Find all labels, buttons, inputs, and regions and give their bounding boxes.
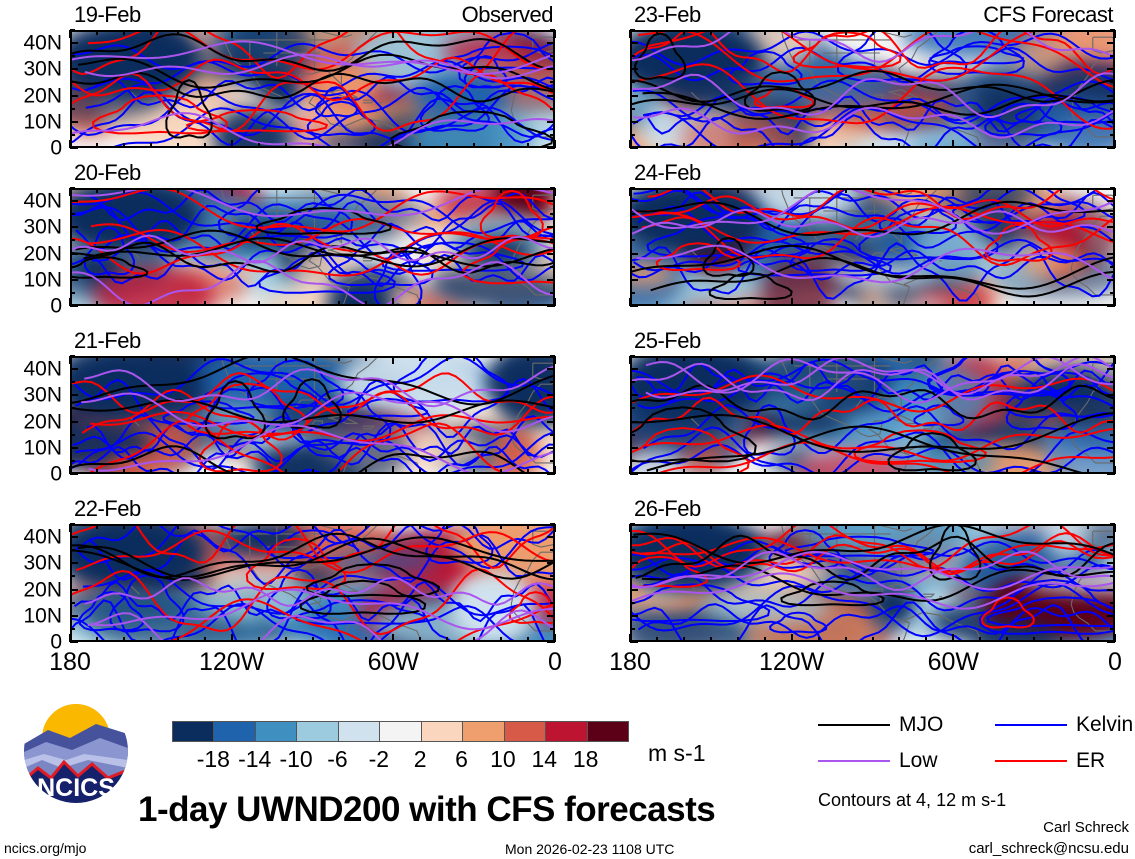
axis-tick [527,524,529,529]
axis-tick [70,121,78,123]
y-tick-label: 0 [50,464,62,485]
axis-tick [70,42,78,44]
axis-tick [872,188,874,193]
axis-tick [1110,239,1115,241]
axis-tick [630,628,635,630]
axis-tick [547,253,555,255]
plot-area [630,524,1115,642]
axis-tick [1110,407,1115,409]
axis-tick [979,356,981,361]
axis-tick [419,524,421,529]
axis-tick [683,188,685,193]
axis-tick [764,524,766,529]
x-tick-label: 120W [759,650,824,675]
axis-tick [791,524,793,532]
axis-tick [547,473,555,475]
axis-tick [96,143,98,148]
axis-tick [630,29,635,31]
axis-tick [527,301,529,306]
axis-tick [70,279,78,281]
axis-tick [150,301,152,306]
axis-tick [1110,187,1115,189]
axis-tick [710,301,712,306]
axis-tick [1033,30,1035,35]
y-tick-label: 10N [23,111,62,132]
axis-tick [96,356,98,361]
axis-tick [123,356,125,361]
axis-tick [1060,637,1062,642]
axis-tick [204,637,206,642]
axis-tick [630,394,638,396]
y-tick-label: 30N [23,385,62,406]
axis-tick [1107,615,1115,617]
axis-tick [872,356,874,361]
axis-tick [527,356,529,361]
axis-tick [70,305,78,307]
axis-tick [630,381,635,383]
axis-tick [1107,121,1115,123]
axis-tick [898,469,900,474]
axis-tick [818,143,820,148]
axis-tick [70,394,78,396]
legend-label-kelvin: Kelvin x2 [1076,714,1135,735]
axis-tick [550,55,555,57]
colorbar-tick-label: 6 [455,746,468,773]
axis-tick [629,188,631,196]
axis-tick [365,356,367,361]
axis-tick [630,292,635,294]
axis-tick [1114,356,1116,364]
axis-tick [550,602,555,604]
colorbar-tick-label: 14 [531,746,557,773]
axis-tick [500,356,502,361]
axis-tick [204,469,206,474]
axis-tick [285,30,287,35]
axis-tick [70,292,75,294]
axis-tick [547,447,555,449]
axis-tick [177,637,179,642]
axis-tick [1033,301,1035,306]
axis-tick [764,30,766,35]
axis-tick [925,469,927,474]
y-axis-labels: 40N30N20N10N0 [4,524,62,642]
axis-tick [312,524,314,529]
colorbar-tick-label: -10 [279,746,312,773]
axis-tick [547,147,555,149]
axis-tick [630,447,638,449]
axis-tick [1114,30,1116,38]
axis-tick [70,589,78,591]
column-header-label: CFS Forecast [983,4,1113,26]
axis-tick [392,634,394,642]
axis-tick [96,188,98,193]
y-tick-label: 20N [23,85,62,106]
axis-tick [446,188,448,193]
axis-tick [1110,81,1115,83]
axis-tick [656,637,658,642]
axis-tick [123,143,125,148]
axis-tick [898,637,900,642]
axis-tick [550,381,555,383]
axis-tick [177,524,179,529]
axis-tick [1060,356,1062,361]
axis-tick [550,434,555,436]
axis-tick [764,637,766,642]
axis-tick [70,407,75,409]
axis-tick [656,356,658,361]
axis-tick [872,143,874,148]
colorbar-swatch [379,722,420,741]
axis-tick [845,188,847,193]
axis-tick [554,30,556,38]
axis-tick [550,628,555,630]
axis-tick [1107,200,1115,202]
axis-tick [1060,524,1062,529]
axis-tick [630,42,638,44]
axis-tick [547,68,555,70]
axis-tick [70,68,78,70]
axis-tick [764,356,766,361]
x-tick-label: 60W [368,650,419,675]
axis-tick [547,279,555,281]
axis-tick [710,356,712,361]
axis-tick [204,143,206,148]
axis-tick [630,305,638,307]
colorbar-tick-label: 18 [573,746,599,773]
author-email[interactable]: carl_schreck@ncsu.edu [969,840,1129,857]
axis-tick [550,239,555,241]
axis-tick [629,30,631,38]
axis-tick [764,301,766,306]
colorbar-swatch [255,722,296,741]
axis-tick [630,68,638,70]
axis-tick [338,637,340,642]
axis-tick [446,301,448,306]
axis-tick [683,637,685,642]
axis-tick [123,469,125,474]
colorbar-swatch [421,722,462,741]
axis-tick [550,292,555,294]
axis-tick [550,29,555,31]
axis-tick [554,524,556,532]
axis-tick [70,473,78,475]
axis-tick [1110,434,1115,436]
axis-tick [630,460,635,462]
axis-tick [177,469,179,474]
axis-tick [1110,575,1115,577]
panel-date-label: 21-Feb [74,330,141,352]
axis-tick [898,301,900,306]
contour-note: Contours at 4, 12 m s-1 [818,790,1006,811]
axis-tick [656,469,658,474]
kelvin-line-swatch [995,724,1067,726]
axis-tick [392,30,394,38]
axis-tick [204,301,206,306]
axis-tick [710,188,712,193]
wave-contours [632,526,1115,642]
axis-tick [630,200,638,202]
colorbar [172,721,629,742]
axis-tick [1033,188,1035,193]
axis-tick [1110,213,1115,215]
axis-tick [1033,356,1035,361]
axis-tick [630,368,638,370]
axis-tick [1107,253,1115,255]
map-panel-23-feb: 23-FebCFS Forecast [630,30,1115,148]
axis-tick [123,637,125,642]
axis-tick [150,469,152,474]
axis-tick [630,473,638,475]
axis-tick [70,628,75,630]
axis-tick [258,143,260,148]
axis-tick [258,30,260,35]
axis-tick [737,30,739,35]
axis-tick [392,298,394,306]
axis-tick [952,298,954,306]
axis-tick [547,615,555,617]
axis-tick [952,356,954,364]
axis-tick [285,524,287,529]
panel-date-label: 26-Feb [634,498,701,520]
site-link[interactable]: ncics.org/mjo [4,840,86,856]
axis-tick [365,30,367,35]
axis-tick [338,30,340,35]
axis-tick [70,134,75,136]
axis-tick [630,523,635,525]
axis-tick [70,381,75,383]
axis-tick [710,637,712,642]
axis-tick [70,95,78,97]
axis-tick [791,634,793,642]
axis-tick [1110,134,1115,136]
x-tick-label: 120W [199,650,264,675]
axis-tick [979,469,981,474]
axis-tick [446,637,448,642]
axis-tick [527,30,529,35]
axis-tick [1110,29,1115,31]
legend-label-low: Low [899,750,938,771]
axis-tick [204,188,206,193]
axis-tick [898,143,900,148]
map-panel-25-feb: 25-Feb [630,356,1115,474]
axis-tick [979,30,981,35]
y-tick-label: 30N [23,217,62,238]
axis-tick [630,615,638,617]
chart-title: 1-day UWND200 with CFS forecasts [138,790,715,830]
axis-tick [312,188,314,193]
axis-tick [177,301,179,306]
axis-tick [177,143,179,148]
plot-area [630,30,1115,148]
axis-tick [285,637,287,642]
y-tick-label: 0 [50,138,62,159]
axis-tick [70,147,78,149]
axis-tick [500,30,502,35]
axis-tick [630,187,635,189]
axis-tick [338,301,340,306]
axis-tick [150,188,152,193]
chart-canvas: 40N30N20N10N019-FebObserved40N30N20N10N0… [0,0,1135,859]
legend-label-er: ER [1076,750,1105,771]
axis-tick [818,356,820,361]
axis-tick [70,108,75,110]
panel-date-label: 25-Feb [634,330,701,352]
axis-tick [1006,524,1008,529]
axis-tick [473,524,475,529]
axis-tick [1033,524,1035,529]
y-tick-label: 30N [23,59,62,80]
axis-tick [656,188,658,193]
axis-tick [737,524,739,529]
axis-tick [312,143,314,148]
axis-tick [630,81,635,83]
axis-tick [1107,305,1115,307]
axis-tick [338,524,340,529]
axis-tick [473,30,475,35]
axis-tick [500,143,502,148]
axis-tick [70,266,75,268]
axis-tick [630,549,635,551]
axis-tick [419,143,421,148]
axis-tick [1060,143,1062,148]
axis-tick [338,188,340,193]
axis-tick [1110,628,1115,630]
axis-tick [365,188,367,193]
axis-tick [872,469,874,474]
axis-tick [898,30,900,35]
axis-tick [872,524,874,529]
axis-tick [500,301,502,306]
axis-tick [547,368,555,370]
axis-tick [365,469,367,474]
axis-tick [1110,381,1115,383]
axis-tick [547,226,555,228]
colorbar-swatch [338,722,379,741]
axis-tick [285,356,287,361]
axis-tick [979,143,981,148]
axis-tick [550,266,555,268]
axis-tick [630,575,635,577]
y-tick-label: 40N [23,191,62,212]
colorbar-swatch [462,722,503,741]
axis-tick [952,466,954,474]
axis-tick [630,641,638,643]
axis-tick [656,301,658,306]
axis-tick [473,637,475,642]
axis-tick [96,469,98,474]
axis-tick [629,356,631,364]
y-tick-label: 20N [23,411,62,432]
wave-contours [632,190,1115,306]
axis-tick [446,30,448,35]
axis-tick [550,523,555,525]
map-panel-19-feb: 19-FebObserved [70,30,555,148]
x-tick-label: 60W [928,650,979,675]
axis-tick [96,524,98,529]
axis-tick [500,188,502,193]
axis-tick [872,637,874,642]
axis-tick [737,637,739,642]
colorbar-swatch [587,722,628,741]
y-tick-label: 40N [23,359,62,380]
axis-tick [500,637,502,642]
axis-tick [1087,637,1089,642]
axis-tick [791,298,793,306]
axis-tick [527,143,529,148]
axis-tick [872,30,874,35]
y-tick-label: 10N [23,269,62,290]
axis-tick [70,602,75,604]
map-panel-26-feb: 26-Feb [630,524,1115,642]
axis-tick [312,637,314,642]
axis-tick [70,253,78,255]
axis-tick [1107,226,1115,228]
axis-tick [547,95,555,97]
axis-tick [96,637,98,642]
axis-tick [845,143,847,148]
axis-tick [204,524,206,529]
axis-tick [446,356,448,361]
axis-tick [925,637,927,642]
axis-tick [818,637,820,642]
axis-tick [925,30,927,35]
axis-tick [952,634,954,642]
axis-tick [710,143,712,148]
axis-tick [630,226,638,228]
axis-tick [1060,469,1062,474]
axis-tick [1107,95,1115,97]
axis-tick [554,356,556,364]
axis-tick [1107,447,1115,449]
wave-contours [72,190,555,306]
axis-tick [473,143,475,148]
axis-tick [1060,30,1062,35]
axis-tick [1107,589,1115,591]
axis-tick [527,469,529,474]
axis-tick [979,524,981,529]
axis-tick [338,356,340,361]
axis-tick [683,469,685,474]
axis-tick [791,140,793,148]
y-axis-labels: 40N30N20N10N0 [4,356,62,474]
axis-tick [258,188,260,193]
axis-tick [338,469,340,474]
axis-tick [1107,147,1115,149]
panel-date-label: 19-Feb [74,4,141,26]
axis-tick [1107,68,1115,70]
axis-tick [656,143,658,148]
plot-area [630,188,1115,306]
axis-tick [630,355,635,357]
axis-tick [1087,30,1089,35]
y-tick-label: 10N [23,437,62,458]
axis-tick [392,524,394,532]
x-tick-label: 0 [548,650,562,675]
axis-tick [1006,301,1008,306]
axis-tick [683,356,685,361]
axis-tick [683,30,685,35]
axis-tick [365,301,367,306]
colorbar-tick-label: 2 [414,746,427,773]
logo-text: NCICS [37,774,115,802]
axis-tick [69,188,71,196]
axis-tick [231,298,233,306]
axis-tick [952,188,954,196]
axis-tick [70,226,78,228]
axis-tick [952,30,954,38]
axis-tick [791,30,793,38]
axis-tick [1060,301,1062,306]
